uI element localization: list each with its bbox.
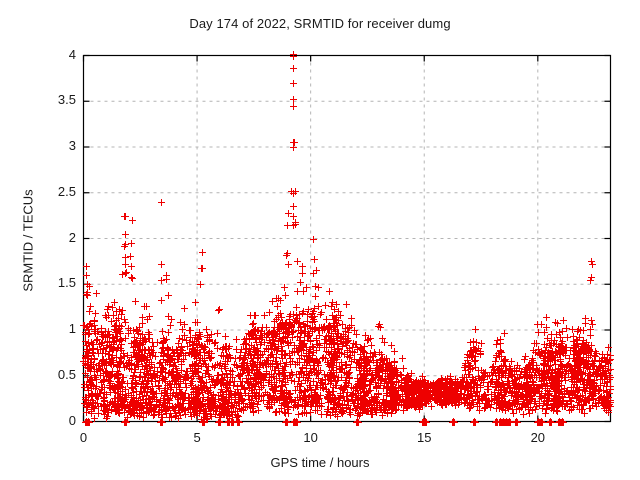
x-tick-label: 10 [286, 430, 336, 445]
chart-title: Day 174 of 2022, SRMTID for receiver dum… [0, 16, 640, 31]
y-tick-label: 2.5 [28, 184, 76, 199]
y-tick-label: 0 [28, 413, 76, 428]
y-tick-label: 3.5 [28, 92, 76, 107]
x-tick-label: 20 [513, 430, 563, 445]
x-axis-label: GPS time / hours [0, 455, 640, 470]
x-tick-label: 0 [59, 430, 109, 445]
x-tick-label: 15 [399, 430, 449, 445]
scatter-plot [0, 0, 640, 480]
y-tick-label: 3 [28, 138, 76, 153]
y-tick-label: 2 [28, 230, 76, 245]
x-tick-label: 5 [172, 430, 222, 445]
y-tick-label: 1.5 [28, 275, 76, 290]
y-tick-label: 1 [28, 321, 76, 336]
y-tick-label: 4 [28, 47, 76, 62]
chart-canvas: Day 174 of 2022, SRMTID for receiver dum… [0, 0, 640, 480]
y-tick-label: 0.5 [28, 367, 76, 382]
